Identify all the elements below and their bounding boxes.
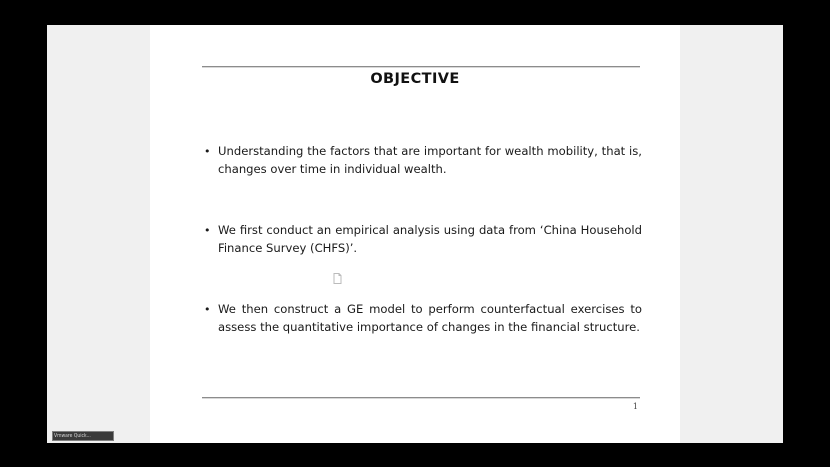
list-item-text: Understanding the factors that are impor… bbox=[218, 144, 642, 176]
mini-toolbar-label: Vmware Quick... bbox=[54, 432, 91, 440]
bullet-marker-icon: • bbox=[204, 143, 211, 161]
list-item: • Understanding the factors that are imp… bbox=[202, 143, 642, 178]
title-rule-top bbox=[202, 66, 640, 68]
footer-rule-bottom bbox=[202, 397, 640, 399]
presentation-slide: OBJECTIVE • Understanding the factors th… bbox=[150, 25, 680, 443]
bullet-marker-icon: • bbox=[204, 301, 211, 319]
bullet-list: • Understanding the factors that are imp… bbox=[202, 143, 642, 336]
bullet-marker-icon: • bbox=[204, 222, 211, 240]
screen-root: OBJECTIVE • Understanding the factors th… bbox=[0, 0, 830, 467]
floating-mini-toolbar[interactable]: Vmware Quick... bbox=[52, 431, 114, 441]
list-item-text: We then construct a GE model to perform … bbox=[218, 302, 642, 334]
list-item: • We first conduct an empirical analysis… bbox=[202, 222, 642, 257]
pointer-page-icon bbox=[333, 269, 342, 280]
list-item: • We then construct a GE model to perfor… bbox=[202, 301, 642, 336]
list-item-text: We first conduct an empirical analysis u… bbox=[218, 223, 642, 255]
page-number: 1 bbox=[633, 402, 638, 411]
page-title: OBJECTIVE bbox=[150, 71, 680, 87]
